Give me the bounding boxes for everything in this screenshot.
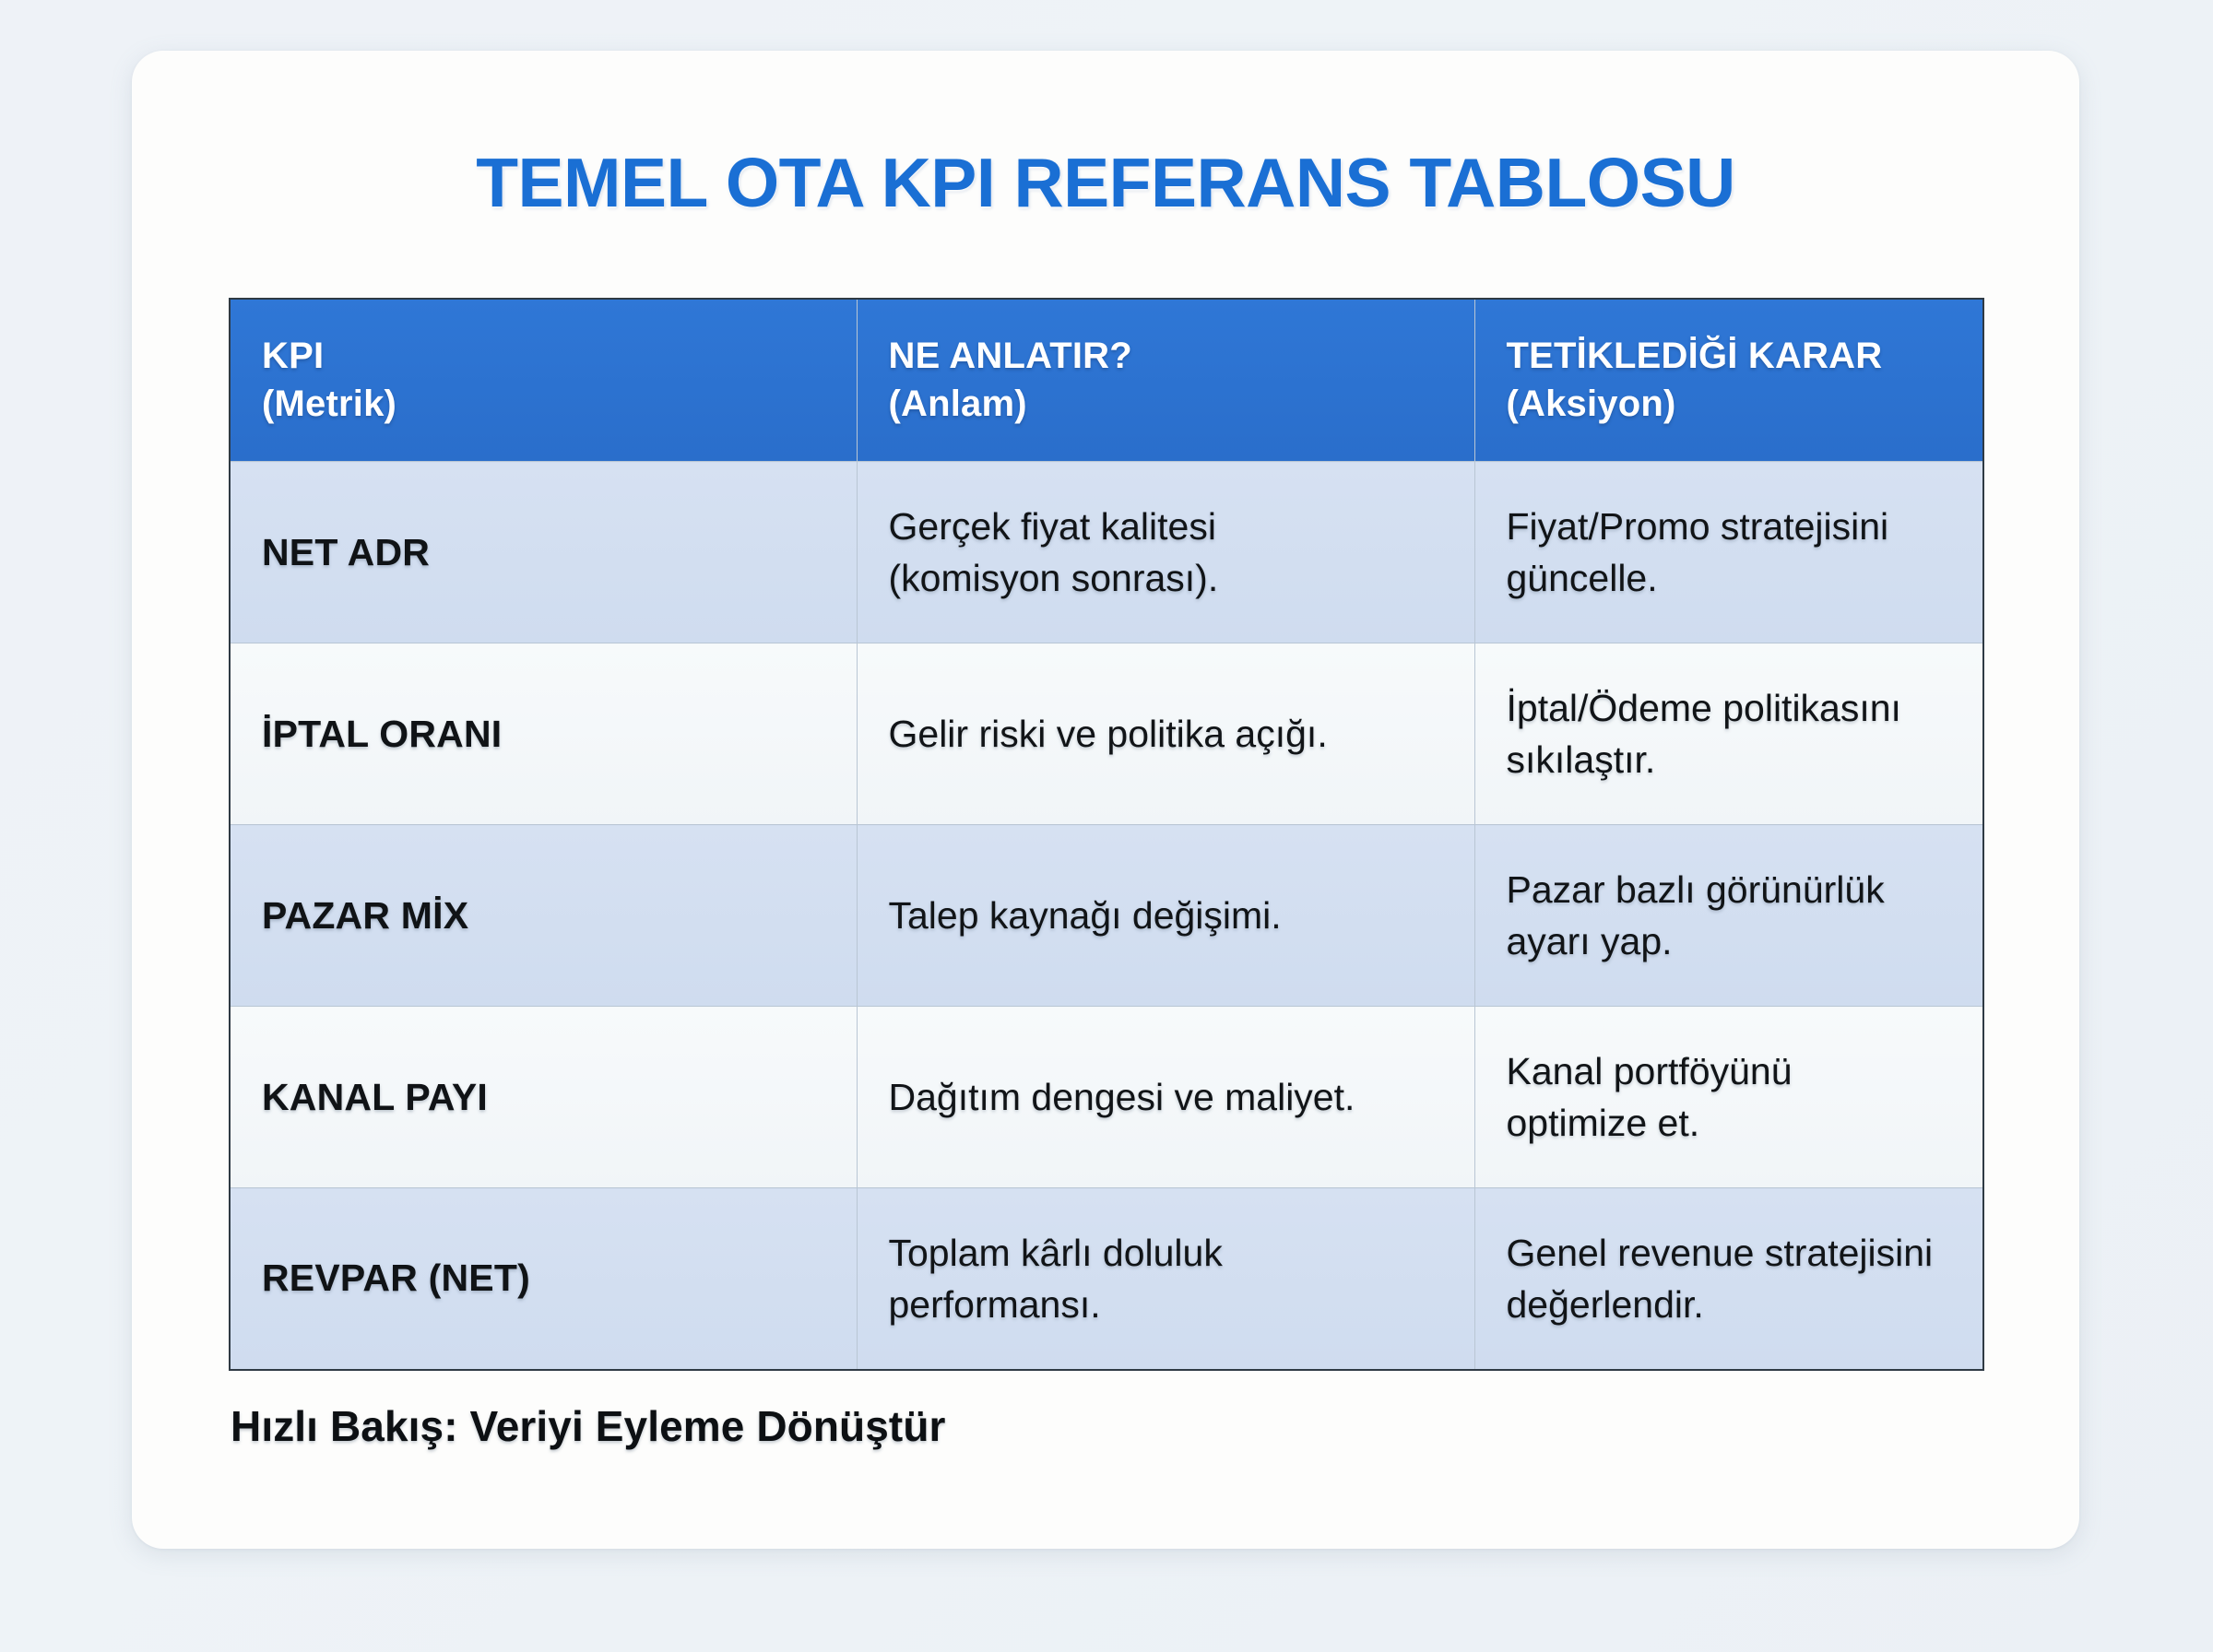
cell-meaning-line2: performansı. <box>889 1279 1443 1330</box>
cell-meaning: Gerçek fiyat kalitesi (komisyon sonrası)… <box>857 462 1474 643</box>
column-header-kpi: KPI (Metrik) <box>230 299 857 462</box>
table-row: PAZAR MİX Talep kaynağı değişimi. Pazar … <box>230 825 1983 1007</box>
column-header-kpi-line2: (Metrik) <box>262 381 825 428</box>
cell-metric: NET ADR <box>230 462 857 643</box>
table-header: KPI (Metrik) NE ANLATIR? (Anlam) TETİKLE… <box>230 299 1983 462</box>
cell-meaning: Talep kaynağı değişimi. <box>857 825 1474 1007</box>
cell-metric: İPTAL ORANI <box>230 643 857 825</box>
cell-meaning-line1: Toplam kârlı doluluk <box>889 1227 1443 1279</box>
cell-action-line2: sıkılaştır. <box>1507 734 1952 785</box>
page-background: TEMEL OTA KPI REFERANS TABLOSU KPI (Metr… <box>0 0 2213 1652</box>
cell-meaning-line1: Talep kaynağı değişimi. <box>889 890 1443 941</box>
card-inner: TEMEL OTA KPI REFERANS TABLOSU KPI (Metr… <box>229 51 1982 1549</box>
cell-action-line1: Kanal portföyünü <box>1507 1045 1952 1097</box>
cell-action-line1: Genel revenue stratejisini <box>1507 1227 1952 1279</box>
cell-metric: KANAL PAYI <box>230 1007 857 1188</box>
page-title: TEMEL OTA KPI REFERANS TABLOSU <box>229 143 1982 222</box>
column-header-meaning-line1: NE ANLATIR? <box>889 333 1443 380</box>
table-row: REVPAR (NET) Toplam kârlı doluluk perfor… <box>230 1188 1983 1370</box>
table-header-row: KPI (Metrik) NE ANLATIR? (Anlam) TETİKLE… <box>230 299 1983 462</box>
cell-meaning-line1: Dağıtım dengesi ve maliyet. <box>889 1071 1443 1123</box>
cell-action: Genel revenue stratejisini değerlendir. <box>1474 1188 1983 1370</box>
cell-meaning: Toplam kârlı doluluk performansı. <box>857 1188 1474 1370</box>
cell-action-line2: değerlendir. <box>1507 1279 1952 1330</box>
kpi-table-container: KPI (Metrik) NE ANLATIR? (Anlam) TETİKLE… <box>229 298 1982 1371</box>
column-header-action-line1: TETİKLEDİĞİ KARAR <box>1507 333 1952 380</box>
cell-meaning: Gelir riski ve politika açığı. <box>857 643 1474 825</box>
cell-action-line1: Fiyat/Promo stratejisini <box>1507 501 1952 552</box>
cell-meaning-line2: (komisyon sonrası). <box>889 552 1443 604</box>
column-header-action-line2: (Aksiyon) <box>1507 381 1952 428</box>
cell-metric: REVPAR (NET) <box>230 1188 857 1370</box>
cell-action-line2: ayarı yap. <box>1507 915 1952 967</box>
cell-action-line1: Pazar bazlı görünürlük <box>1507 864 1952 915</box>
cell-action-line2: optimize et. <box>1507 1097 1952 1149</box>
cell-meaning-line1: Gerçek fiyat kalitesi <box>889 501 1443 552</box>
cell-action-line1: İptal/Ödeme politikasını <box>1507 682 1952 734</box>
kpi-reference-table: KPI (Metrik) NE ANLATIR? (Anlam) TETİKLE… <box>229 298 1984 1371</box>
cell-meaning: Dağıtım dengesi ve maliyet. <box>857 1007 1474 1188</box>
table-body: NET ADR Gerçek fiyat kalitesi (komisyon … <box>230 462 1983 1370</box>
cell-meaning-line1: Gelir riski ve politika açığı. <box>889 708 1443 760</box>
table-row: NET ADR Gerçek fiyat kalitesi (komisyon … <box>230 462 1983 643</box>
footer-note: Hızlı Bakış: Veriyi Eyleme Dönüştür <box>231 1401 946 1451</box>
column-header-meaning-line2: (Anlam) <box>889 381 1443 428</box>
content-card: TEMEL OTA KPI REFERANS TABLOSU KPI (Metr… <box>132 51 2079 1549</box>
cell-action-line2: güncelle. <box>1507 552 1952 604</box>
cell-action: Fiyat/Promo stratejisini güncelle. <box>1474 462 1983 643</box>
table-row: KANAL PAYI Dağıtım dengesi ve maliyet. K… <box>230 1007 1983 1188</box>
cell-metric: PAZAR MİX <box>230 825 857 1007</box>
cell-action: İptal/Ödeme politikasını sıkılaştır. <box>1474 643 1983 825</box>
cell-action: Pazar bazlı görünürlük ayarı yap. <box>1474 825 1983 1007</box>
cell-action: Kanal portföyünü optimize et. <box>1474 1007 1983 1188</box>
column-header-meaning: NE ANLATIR? (Anlam) <box>857 299 1474 462</box>
table-row: İPTAL ORANI Gelir riski ve politika açığ… <box>230 643 1983 825</box>
column-header-kpi-line1: KPI <box>262 333 825 380</box>
column-header-action: TETİKLEDİĞİ KARAR (Aksiyon) <box>1474 299 1983 462</box>
